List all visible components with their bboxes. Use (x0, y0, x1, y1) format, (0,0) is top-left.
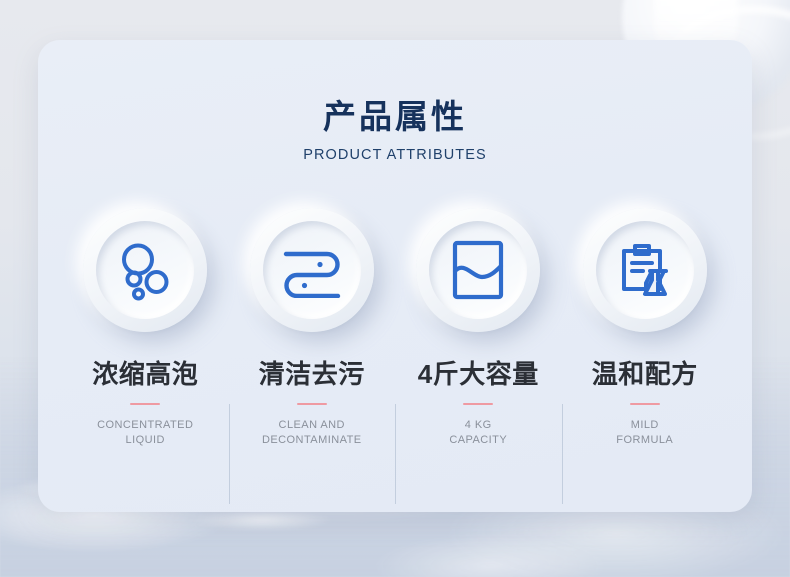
icon-disc-inner (596, 221, 694, 319)
page-subtitle: PRODUCT ATTRIBUTES (38, 147, 752, 163)
feature-item-formula: 温和配方 MILD FORMULA (562, 208, 729, 448)
feature-list: 浓缩高泡 CONCENTRATED LIQUID (62, 208, 728, 448)
icon-disc (583, 208, 707, 332)
feature-subtitle: 4 KG CAPACITY (449, 418, 507, 448)
icon-disc-inner (429, 221, 527, 319)
page-title: 产品属性 (38, 100, 752, 133)
panel-heading: 产品属性 PRODUCT ATTRIBUTES (38, 100, 752, 163)
icon-disc-inner (263, 221, 361, 319)
icon-disc (83, 208, 207, 332)
bubbles-icon (114, 239, 176, 301)
promo-banner: 产品属性 PRODUCT ATTRIBUTES (0, 0, 790, 577)
clipboard-flask-icon (614, 239, 676, 301)
feature-rule (130, 403, 160, 405)
feature-subtitle: CLEAN AND DECONTAMINATE (262, 418, 362, 448)
attributes-panel: 产品属性 PRODUCT ATTRIBUTES (38, 40, 752, 512)
feature-title: 清洁去污 (259, 360, 365, 389)
icon-disc (250, 208, 374, 332)
feature-title: 4斤大容量 (418, 360, 539, 389)
feature-item-clean: 清洁去污 CLEAN AND DECONTAMINATE (229, 208, 396, 448)
feature-title: 温和配方 (592, 360, 698, 389)
feature-item-concentrated: 浓缩高泡 CONCENTRATED LIQUID (62, 208, 229, 448)
icon-disc (416, 208, 540, 332)
feature-subtitle: CONCENTRATED LIQUID (97, 418, 193, 448)
feature-rule (463, 403, 493, 405)
liquid-container-icon (451, 239, 505, 301)
icon-disc-inner (96, 221, 194, 319)
feature-rule (630, 403, 660, 405)
wipe-path-icon (280, 242, 344, 298)
feature-item-capacity: 4斤大容量 4 KG CAPACITY (395, 208, 562, 448)
feature-rule (297, 403, 327, 405)
feature-subtitle: MILD FORMULA (616, 418, 673, 448)
feature-title: 浓缩高泡 (92, 360, 198, 389)
